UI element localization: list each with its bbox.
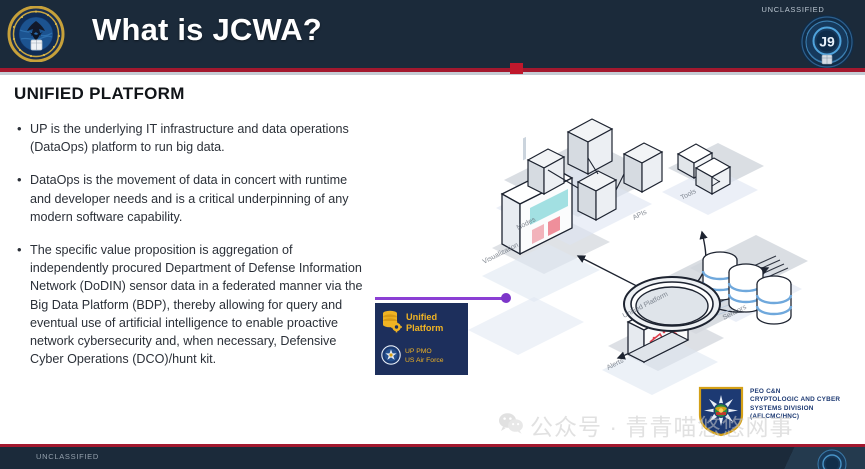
bullet-item: • UP is the underlying IT infrastructure… — [14, 120, 366, 156]
unified-platform-callout: Unified Platform UP PMO US Air Force — [375, 303, 468, 375]
section-heading: UNIFIED PLATFORM — [14, 84, 185, 104]
callout-secondary-row: UP PMO US Air Force — [381, 345, 462, 370]
bullet-marker: • — [14, 120, 30, 138]
classification-banner-bottom: UNCLASSIFIED — [36, 452, 99, 461]
peo-cn-logo-block: PEO C&N CRYPTOLOGIC AND CYBER SYSTEMS DI… — [697, 385, 865, 441]
bullet-text: UP is the underlying IT infrastructure a… — [30, 120, 366, 156]
j9-seal-icon: J9 — [799, 14, 855, 70]
peo-line-2: CRYPTOLOGIC AND CYBER — [750, 396, 840, 403]
bullet-item: • The specific value proposition is aggr… — [14, 241, 366, 368]
peo-cn-logo-text: PEO C&N CRYPTOLOGIC AND CYBER SYSTEMS DI… — [745, 385, 840, 422]
bullet-marker: • — [14, 171, 30, 189]
footer-angle-accent — [745, 447, 865, 469]
callout-subtitle: UP PMO US Air Force — [401, 348, 444, 365]
callout-primary-row: Unified Platform — [381, 309, 462, 338]
bullet-list: • UP is the underlying IT infrastructure… — [14, 120, 366, 383]
bullet-marker: • — [14, 241, 30, 259]
page-title: What is JCWA? — [92, 12, 322, 48]
header-divider-grey — [0, 72, 865, 75]
air-force-seal-icon — [381, 345, 401, 370]
peo-line-1: PEO C&N — [750, 388, 781, 395]
callout-title: Unified Platform — [403, 312, 443, 334]
slide-header: What is JCWA? UNCLASSIFIED J9 — [0, 0, 865, 68]
callout-title-line-1: Unified — [406, 312, 437, 322]
peo-line-4: (AFLCMC/HNC) — [750, 413, 799, 420]
callout-connector-line — [375, 297, 507, 300]
bullet-text: The specific value proposition is aggreg… — [30, 241, 366, 368]
peo-cn-crest-icon — [697, 385, 745, 442]
svg-text:J9: J9 — [819, 34, 835, 50]
slide-root: What is JCWA? UNCLASSIFIED J9 — [0, 0, 865, 469]
slide-footer — [0, 447, 865, 469]
footer-j9-seal-icon — [817, 449, 847, 469]
wechat-icon — [498, 412, 524, 439]
callout-title-line-2: Platform — [406, 323, 443, 333]
us-cyber-command-seal-icon — [7, 6, 65, 62]
divider-marker — [510, 63, 523, 74]
callout-sub-line-2: US Air Force — [405, 357, 444, 364]
bullet-item: • DataOps is the movement of data in con… — [14, 171, 366, 226]
bullet-text: DataOps is the movement of data in conce… — [30, 171, 366, 226]
classification-banner-top: UNCLASSIFIED — [733, 5, 853, 14]
callout-connector-dot — [501, 293, 511, 303]
callout-sub-line-1: UP PMO — [405, 348, 432, 355]
peo-line-3: SYSTEMS DIVISION — [750, 405, 814, 412]
database-gear-icon — [381, 309, 403, 338]
